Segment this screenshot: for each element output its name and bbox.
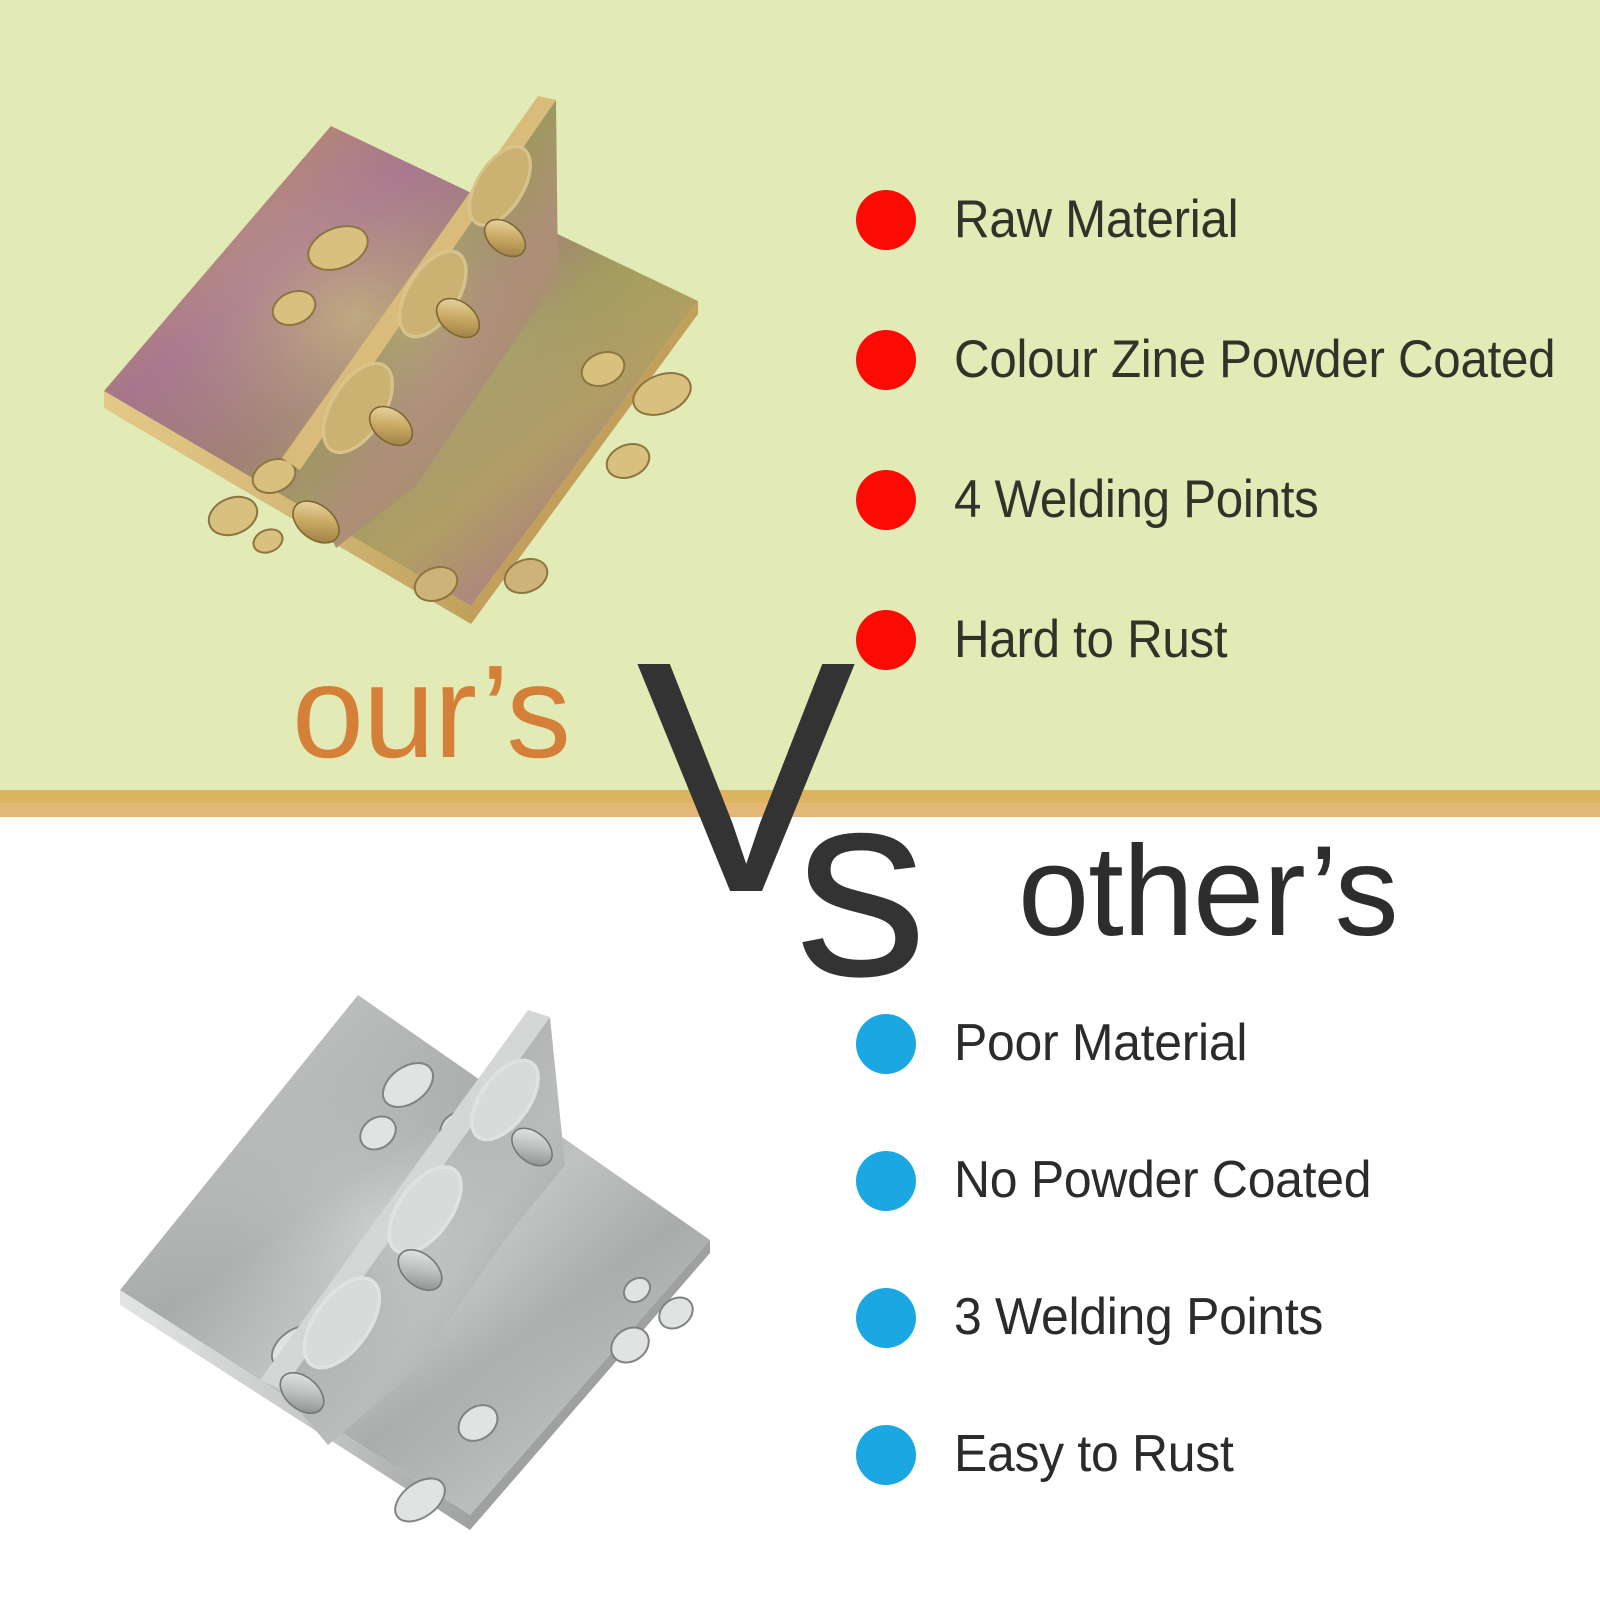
bullet-dot-icon — [856, 190, 916, 250]
bullet-dot-icon — [856, 1288, 916, 1348]
bullet-dot-icon — [856, 1014, 916, 1074]
feature-label: Easy to Rust — [954, 1428, 1234, 1481]
ours-label: our’s — [292, 646, 570, 778]
ours-product-image — [86, 86, 716, 631]
others-label: other’s — [1018, 828, 1398, 956]
list-item: 4 Welding Points — [856, 430, 1596, 570]
feature-label: Poor Material — [954, 1017, 1247, 1070]
feature-label: Colour Zine Powder Coated — [954, 333, 1555, 387]
list-item: 3 Welding Points — [856, 1249, 1596, 1386]
bullet-dot-icon — [856, 1151, 916, 1211]
feature-label: 3 Welding Points — [954, 1291, 1323, 1344]
bullet-dot-icon — [856, 330, 916, 390]
list-item: No Powder Coated — [856, 1112, 1596, 1249]
bullet-dot-icon — [856, 1425, 916, 1485]
feature-label: Hard to Rust — [954, 613, 1227, 667]
list-item: Poor Material — [856, 975, 1596, 1112]
bullet-dot-icon — [856, 610, 916, 670]
feature-label: No Powder Coated — [954, 1154, 1371, 1207]
others-feature-list: Poor Material No Powder Coated 3 Welding… — [856, 975, 1596, 1523]
ours-feature-list: Raw Material Colour Zine Powder Coated 4… — [856, 150, 1596, 710]
list-item: Easy to Rust — [856, 1386, 1596, 1523]
list-item: Raw Material — [856, 150, 1596, 290]
comparison-infographic: Raw Material Colour Zine Powder Coated 4… — [0, 0, 1600, 1600]
list-item: Colour Zine Powder Coated — [856, 290, 1596, 430]
feature-label: 4 Welding Points — [954, 473, 1319, 527]
list-item: Hard to Rust — [856, 570, 1596, 710]
feature-label: Raw Material — [954, 193, 1238, 247]
bullet-dot-icon — [856, 470, 916, 530]
others-product-image — [110, 955, 730, 1535]
